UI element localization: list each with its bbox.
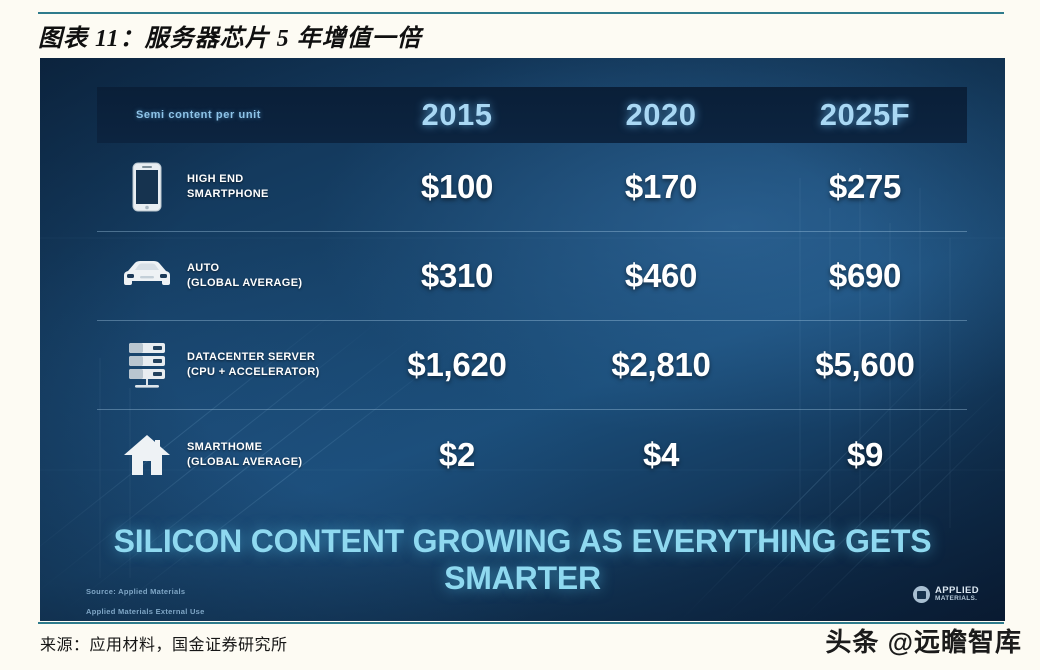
table-header-row: Semi content per unit 2015 2020 2025F [97, 87, 967, 143]
column-header-2020: 2020 [559, 97, 763, 133]
slide-tagline: SILICON CONTENT GROWING AS EVERYTHING GE… [40, 523, 1005, 597]
row-label-cell: AUTO (GLOBAL AVERAGE) [97, 248, 355, 304]
page-title: 图表 11：服务器芯片 5 年增值一倍 [38, 18, 1004, 52]
row-label-cell: DATACENTER SERVER (CPU + ACCELERATOR) [97, 337, 355, 393]
row-label-line2: (GLOBAL AVERAGE) [187, 455, 302, 470]
table-row: DATACENTER SERVER (CPU + ACCELERATOR) $1… [97, 321, 967, 410]
applied-materials-logo: APPLIED MATERIALS. [913, 586, 979, 603]
logo-wordmark: APPLIED MATERIALS. [935, 586, 979, 603]
row-label-line1: HIGH END [187, 172, 269, 187]
watermark: 头条 @远瞻智库 [825, 622, 1022, 659]
value-2025f: $5,600 [763, 346, 967, 384]
row-label-text: AUTO (GLOBAL AVERAGE) [187, 261, 302, 290]
presentation-slide: Semi content per unit 2015 2020 2025F HI… [40, 58, 1005, 621]
slide-usage-note: Applied Materials External Use [86, 607, 205, 616]
logo-glyph-icon [917, 591, 926, 599]
table-row: HIGH END SMARTPHONE $100 $170 $275 [97, 143, 967, 232]
source-citation: 来源：应用材料，国金证券研究所 [40, 631, 288, 655]
column-header-2025f: 2025F [763, 97, 967, 133]
column-header-metric: Semi content per unit [97, 109, 355, 121]
home-icon [119, 427, 175, 483]
row-label-line2: SMARTPHONE [187, 187, 269, 202]
server-icon [119, 337, 175, 393]
logo-line-2: MATERIALS. [935, 596, 979, 603]
row-label-text: DATACENTER SERVER (CPU + ACCELERATOR) [187, 350, 320, 379]
title-top-rule [38, 12, 1004, 14]
row-label-line1: SMARTHOME [187, 440, 302, 455]
slide-source-note: Source: Applied Materials [86, 587, 185, 596]
row-label-line1: DATACENTER SERVER [187, 350, 320, 365]
value-2025f: $275 [763, 168, 967, 206]
table-row: SMARTHOME (GLOBAL AVERAGE) $2 $4 $9 [97, 410, 967, 499]
table-row: AUTO (GLOBAL AVERAGE) $310 $460 $690 [97, 232, 967, 321]
column-header-2015: 2015 [355, 97, 559, 133]
value-2015: $100 [355, 168, 559, 206]
smartphone-icon [119, 159, 175, 215]
row-label-cell: HIGH END SMARTPHONE [97, 159, 355, 215]
row-label-text: SMARTHOME (GLOBAL AVERAGE) [187, 440, 302, 469]
row-label-text: HIGH END SMARTPHONE [187, 172, 269, 201]
value-2025f: $9 [763, 436, 967, 474]
value-2020: $2,810 [559, 346, 763, 384]
value-2020: $4 [559, 436, 763, 474]
value-2020: $460 [559, 257, 763, 295]
value-2015: $310 [355, 257, 559, 295]
value-2020: $170 [559, 168, 763, 206]
value-2025f: $690 [763, 257, 967, 295]
row-label-cell: SMARTHOME (GLOBAL AVERAGE) [97, 427, 355, 483]
car-icon [119, 248, 175, 304]
value-2015: $2 [355, 436, 559, 474]
semi-content-table: Semi content per unit 2015 2020 2025F HI… [97, 87, 967, 499]
row-label-line2: (CPU + ACCELERATOR) [187, 365, 320, 380]
row-label-line1: AUTO [187, 261, 302, 276]
value-2015: $1,620 [355, 346, 559, 384]
applied-materials-mark-icon [913, 586, 930, 603]
row-label-line2: (GLOBAL AVERAGE) [187, 276, 302, 291]
